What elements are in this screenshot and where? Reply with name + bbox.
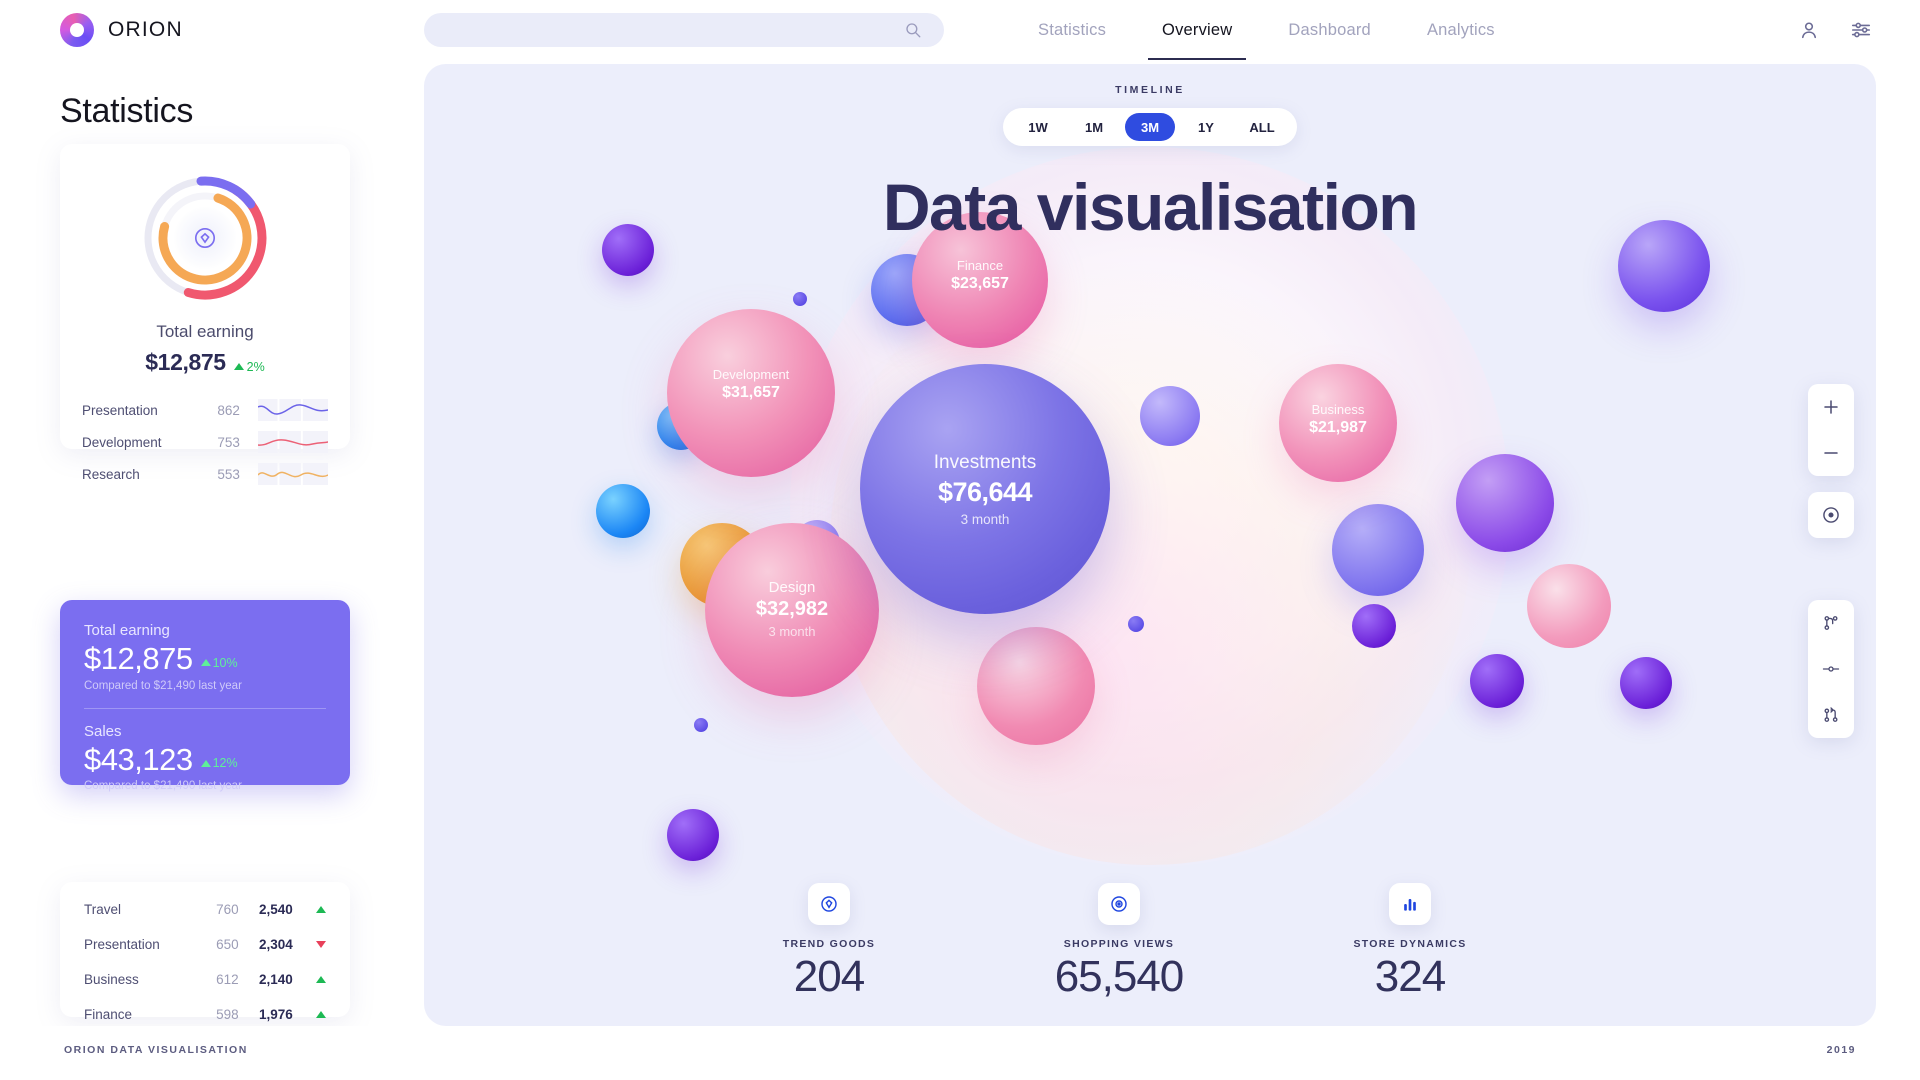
- decor-sphere: [1456, 454, 1554, 552]
- branch-button[interactable]: [1808, 600, 1854, 646]
- row-amount: 2,540: [239, 902, 293, 917]
- bubble-sub: 3 month: [961, 512, 1010, 527]
- row-name: Presentation: [84, 937, 198, 952]
- trend-up-icon: [201, 659, 211, 666]
- sparkline-development: [258, 431, 328, 453]
- visualisation-stage: TIMELINE 1W 1M 3M 1Y ALL Data visualisat…: [424, 64, 1876, 1026]
- total-earning-card: Total earning $12,875 2% Presentation 86…: [60, 144, 350, 449]
- row-trend: [293, 941, 326, 948]
- stat-label: TREND GOODS: [719, 938, 939, 950]
- stat-icon-box[interactable]: [1389, 883, 1431, 925]
- row-value: 553: [191, 467, 240, 482]
- settings-sliders-icon[interactable]: [1850, 19, 1872, 41]
- zoom-out-button[interactable]: [1808, 430, 1854, 476]
- row-label: Presentation: [82, 403, 191, 418]
- zoom-in-icon: [1822, 398, 1840, 416]
- page-title: Statistics: [60, 92, 193, 131]
- delta-value: 10%: [213, 656, 238, 670]
- stat-shopping-views: SHOPPING VIEWS 65,540: [1009, 883, 1229, 1002]
- total-earning-delta: 2%: [234, 360, 265, 374]
- timeline-option-1m[interactable]: 1M: [1069, 113, 1119, 141]
- bubble-label: Business: [1279, 402, 1397, 417]
- row-value: 753: [191, 435, 240, 450]
- stat-value: 204: [719, 952, 939, 1002]
- search-input[interactable]: [424, 13, 944, 47]
- timeline-label: TIMELINE: [424, 84, 1876, 96]
- footer-brand-text: ORION DATA VISUALISATION: [64, 1044, 248, 1056]
- block-value-row: $12,875 10%: [84, 641, 326, 677]
- row-name: Finance: [84, 1007, 198, 1022]
- block-label: Sales: [84, 723, 326, 740]
- bubble-business[interactable]: Business $21,987: [1279, 364, 1397, 482]
- delta-value: 2%: [247, 360, 265, 374]
- node-slider-button[interactable]: [1808, 646, 1854, 692]
- decor-sphere: [1332, 504, 1424, 596]
- trend-down-icon: [316, 941, 326, 948]
- stat-trend-goods: TREND GOODS 204: [719, 883, 939, 1002]
- row-count: 598: [198, 1007, 239, 1022]
- merge-button[interactable]: [1808, 692, 1854, 738]
- bubble-value: $31,657: [667, 384, 835, 402]
- table-row[interactable]: Presentation 650 2,304: [84, 927, 326, 962]
- row-label: Development: [82, 435, 191, 450]
- decor-sphere: [977, 627, 1095, 745]
- merge-icon: [1821, 705, 1841, 725]
- list-item[interactable]: Research 553: [82, 458, 328, 490]
- zoom-out-icon: [1822, 444, 1840, 462]
- node-slider-icon: [1821, 659, 1841, 679]
- center-target-icon: [1821, 505, 1841, 525]
- decor-sphere: [1128, 616, 1144, 632]
- zoom-in-button[interactable]: [1808, 384, 1854, 430]
- block-sub: Compared to $21,490 last year: [84, 680, 326, 692]
- nav-item-analytics[interactable]: Analytics: [1399, 0, 1523, 60]
- timeline-option-3m[interactable]: 3M: [1125, 113, 1175, 141]
- center-toolbar: [1808, 492, 1854, 538]
- decor-sphere: [1620, 657, 1672, 709]
- timeline-option-1y[interactable]: 1Y: [1181, 113, 1231, 141]
- bubble-design[interactable]: Design $32,982 3 month: [705, 523, 879, 697]
- eye-target-icon: [1109, 894, 1129, 914]
- categories-table-card: Travel 760 2,540 Presentation 650 2,304 …: [60, 882, 350, 1017]
- stage-title: Data visualisation: [424, 169, 1876, 245]
- table-row[interactable]: Business 612 2,140: [84, 962, 326, 997]
- timeline-option-1w[interactable]: 1W: [1013, 113, 1063, 141]
- center-target-button[interactable]: [1808, 492, 1854, 538]
- nav-item-dashboard[interactable]: Dashboard: [1260, 0, 1399, 60]
- main-nav: Statistics Overview Dashboard Analytics: [1010, 0, 1523, 60]
- block-value: $43,123: [84, 742, 193, 778]
- user-account-icon[interactable]: [1798, 19, 1820, 41]
- row-count: 650: [198, 937, 239, 952]
- timeline-option-all[interactable]: ALL: [1237, 113, 1287, 141]
- total-earning-value-row: $12,875 2%: [82, 349, 328, 376]
- branch-icon: [1821, 613, 1841, 633]
- block-delta: 10%: [201, 656, 238, 670]
- earnings-block: Total earning $12,875 10% Compared to $2…: [84, 622, 326, 692]
- row-amount: 2,140: [239, 972, 293, 987]
- trend-up-icon: [316, 906, 326, 913]
- earning-breakdown-list: Presentation 862 Development 753 Researc…: [82, 394, 328, 490]
- stat-value: 324: [1300, 952, 1520, 1002]
- decor-sphere: [793, 292, 807, 306]
- diamond-target-icon: [192, 225, 218, 251]
- block-sub: Compared to $21,490 last year: [84, 780, 326, 792]
- card-divider: [84, 708, 326, 709]
- decor-sphere: [1527, 564, 1611, 648]
- row-name: Business: [84, 972, 198, 987]
- earnings-sales-card: Total earning $12,875 10% Compared to $2…: [60, 600, 350, 785]
- sparkline-research: [258, 463, 328, 485]
- stat-store-dynamics: STORE DYNAMICS 324: [1300, 883, 1520, 1002]
- row-name: Travel: [84, 902, 198, 917]
- list-item[interactable]: Development 753: [82, 426, 328, 458]
- bubble-value: $32,982: [705, 598, 879, 621]
- decor-sphere: [667, 809, 719, 861]
- bubble-sub: 3 month: [705, 624, 879, 639]
- decor-sphere: [1352, 604, 1396, 648]
- decor-sphere: [596, 484, 650, 538]
- timeline-selector: 1W 1M 3M 1Y ALL: [1003, 108, 1297, 146]
- row-amount: 2,304: [239, 937, 293, 952]
- stat-icon-box[interactable]: [808, 883, 850, 925]
- row-trend: [293, 1011, 326, 1018]
- decor-sphere: [694, 718, 708, 732]
- stat-value: 65,540: [1009, 952, 1229, 1002]
- sparkline-presentation: [258, 399, 328, 421]
- row-trend: [293, 976, 326, 983]
- row-value: 862: [191, 403, 240, 418]
- topbar-icon-group: [1798, 0, 1872, 60]
- graph-tools-toolbar: [1808, 600, 1854, 738]
- bubble-value: $21,987: [1279, 419, 1397, 437]
- row-amount: 1,976: [239, 1007, 293, 1022]
- block-label: Total earning: [84, 622, 326, 639]
- trend-up-icon: [234, 363, 244, 370]
- bubble-label: Design: [705, 579, 879, 596]
- bubble-investments[interactable]: Investments $76,644 3 month: [860, 364, 1110, 614]
- top-bar: ORION Statistics Overview Dashboard Anal…: [0, 0, 1920, 60]
- delta-value: 12%: [213, 756, 238, 770]
- total-earning-value: $12,875: [145, 349, 225, 376]
- footer-bar: ORION DATA VISUALISATION 2019: [0, 1026, 1920, 1080]
- trend-up-icon: [316, 976, 326, 983]
- bubble-label: Development: [667, 367, 835, 382]
- row-count: 612: [198, 972, 239, 987]
- brand-logo[interactable]: ORION: [60, 13, 183, 47]
- row-label: Research: [82, 467, 191, 482]
- stat-label: STORE DYNAMICS: [1300, 938, 1520, 950]
- decor-sphere: [1140, 386, 1200, 446]
- bubble-label: Investments: [934, 452, 1036, 474]
- nav-item-statistics[interactable]: Statistics: [1010, 0, 1134, 60]
- block-delta: 12%: [201, 756, 238, 770]
- bar-chart-icon: [1400, 894, 1420, 914]
- bubble-value: $23,657: [912, 275, 1048, 293]
- stat-label: SHOPPING VIEWS: [1009, 938, 1229, 950]
- trend-up-icon: [316, 1011, 326, 1018]
- nav-item-overview[interactable]: Overview: [1134, 0, 1260, 60]
- brand-name: ORION: [108, 18, 183, 42]
- list-item[interactable]: Presentation 862: [82, 394, 328, 426]
- total-earning-label: Total earning: [82, 322, 328, 342]
- footer-year: 2019: [1827, 1044, 1856, 1056]
- bubble-label: Finance: [912, 258, 1048, 273]
- bubble-development[interactable]: Development $31,657: [667, 309, 835, 477]
- block-value: $12,875: [84, 641, 193, 677]
- table-row[interactable]: Travel 760 2,540: [84, 892, 326, 927]
- bubble-value: $76,644: [938, 477, 1032, 508]
- donut-chart: [137, 170, 273, 306]
- zoom-toolbar: [1808, 384, 1854, 476]
- stat-icon-box[interactable]: [1098, 883, 1140, 925]
- decor-sphere: [1470, 654, 1524, 708]
- trend-up-icon: [201, 760, 211, 767]
- row-count: 760: [198, 902, 239, 917]
- sales-block: Sales $43,123 12% Compared to $21,490 la…: [84, 723, 326, 793]
- location-pin-icon: [819, 894, 839, 914]
- orion-ring-logo-icon: [60, 13, 94, 47]
- block-value-row: $43,123 12%: [84, 742, 326, 778]
- row-trend: [293, 906, 326, 913]
- left-sidebar: Statistics Total earning: [0, 60, 424, 1080]
